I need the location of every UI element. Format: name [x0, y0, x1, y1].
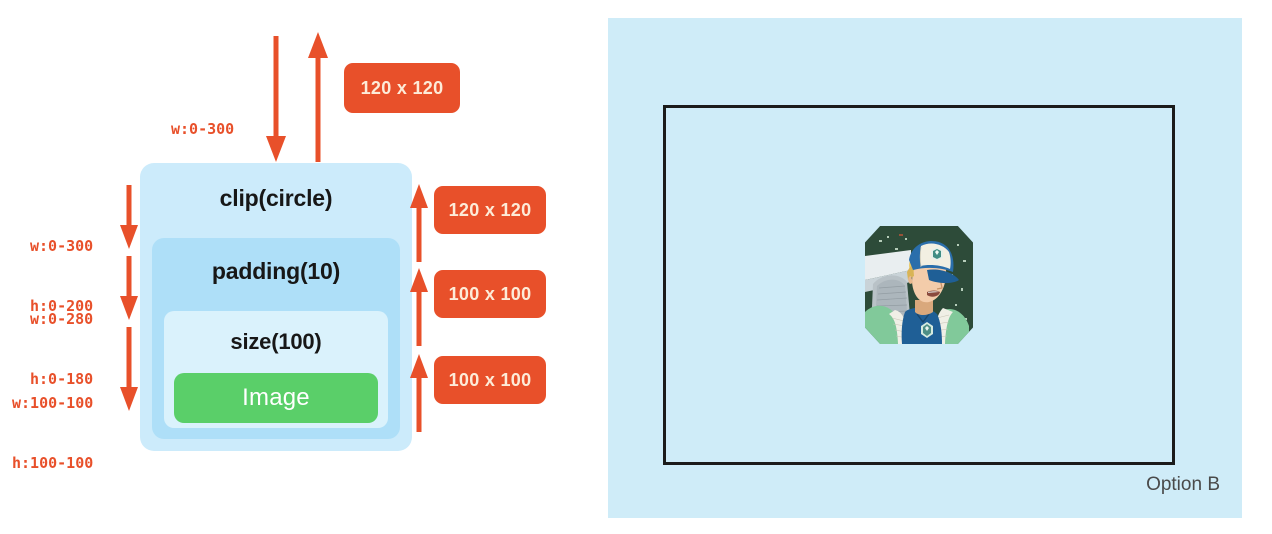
- widget-label-padding: padding(10): [152, 258, 400, 285]
- size-badge-size: 100 x 100: [434, 356, 546, 404]
- arrow-up-size-2: [408, 266, 430, 348]
- avatar-artwork: [865, 226, 973, 344]
- arrow-down-constraint-2: [118, 254, 140, 322]
- widget-label-image: Image: [242, 384, 310, 412]
- size-badge-top-label: 120 x 120: [361, 78, 444, 99]
- constraint-height: h:100-100: [12, 453, 93, 473]
- arrow-down-constraints-top: [264, 34, 288, 164]
- constraint-width: w:0-300: [30, 236, 93, 256]
- constraint-width: w:0-300: [171, 119, 234, 139]
- diagram-stage: w:0-300 h:0-200 120 x 120 clip(circle): [0, 0, 1272, 534]
- constraint-width: w:0-280: [30, 309, 93, 329]
- constraint-width: w:100-100: [12, 393, 93, 413]
- widget-box-padding: padding(10) size(100) Image: [152, 238, 400, 439]
- arrow-up-size-3: [408, 352, 430, 434]
- arrow-up-size-1: [408, 182, 430, 264]
- constraint-label-size: w:100-100 h:100-100: [12, 352, 93, 514]
- size-badge-clip: 120 x 120: [434, 186, 546, 234]
- widget-label-clip: clip(circle): [140, 185, 412, 212]
- constraints-diagram: w:0-300 h:0-200 120 x 120 clip(circle): [0, 0, 600, 534]
- size-badge-top: 120 x 120: [344, 63, 460, 113]
- size-badge-clip-label: 120 x 120: [449, 200, 532, 221]
- widget-box-clip: clip(circle) padding(10) size(100) Image: [140, 163, 412, 451]
- size-badge-padding-label: 100 x 100: [449, 284, 532, 305]
- option-b-panel: Option B: [608, 18, 1242, 518]
- size-badge-padding: 100 x 100: [434, 270, 546, 318]
- widget-box-size: size(100) Image: [164, 311, 388, 428]
- arrow-up-size-top: [306, 30, 330, 164]
- widget-box-image: Image: [174, 373, 378, 423]
- arrow-down-constraint-3: [118, 325, 140, 413]
- option-caption: Option B: [1146, 474, 1220, 496]
- clipped-character-avatar: [865, 226, 973, 344]
- arrow-down-constraint-1: [118, 183, 140, 251]
- widget-label-size: size(100): [164, 329, 388, 355]
- size-badge-size-label: 100 x 100: [449, 370, 532, 391]
- option-frame-border: [663, 105, 1175, 465]
